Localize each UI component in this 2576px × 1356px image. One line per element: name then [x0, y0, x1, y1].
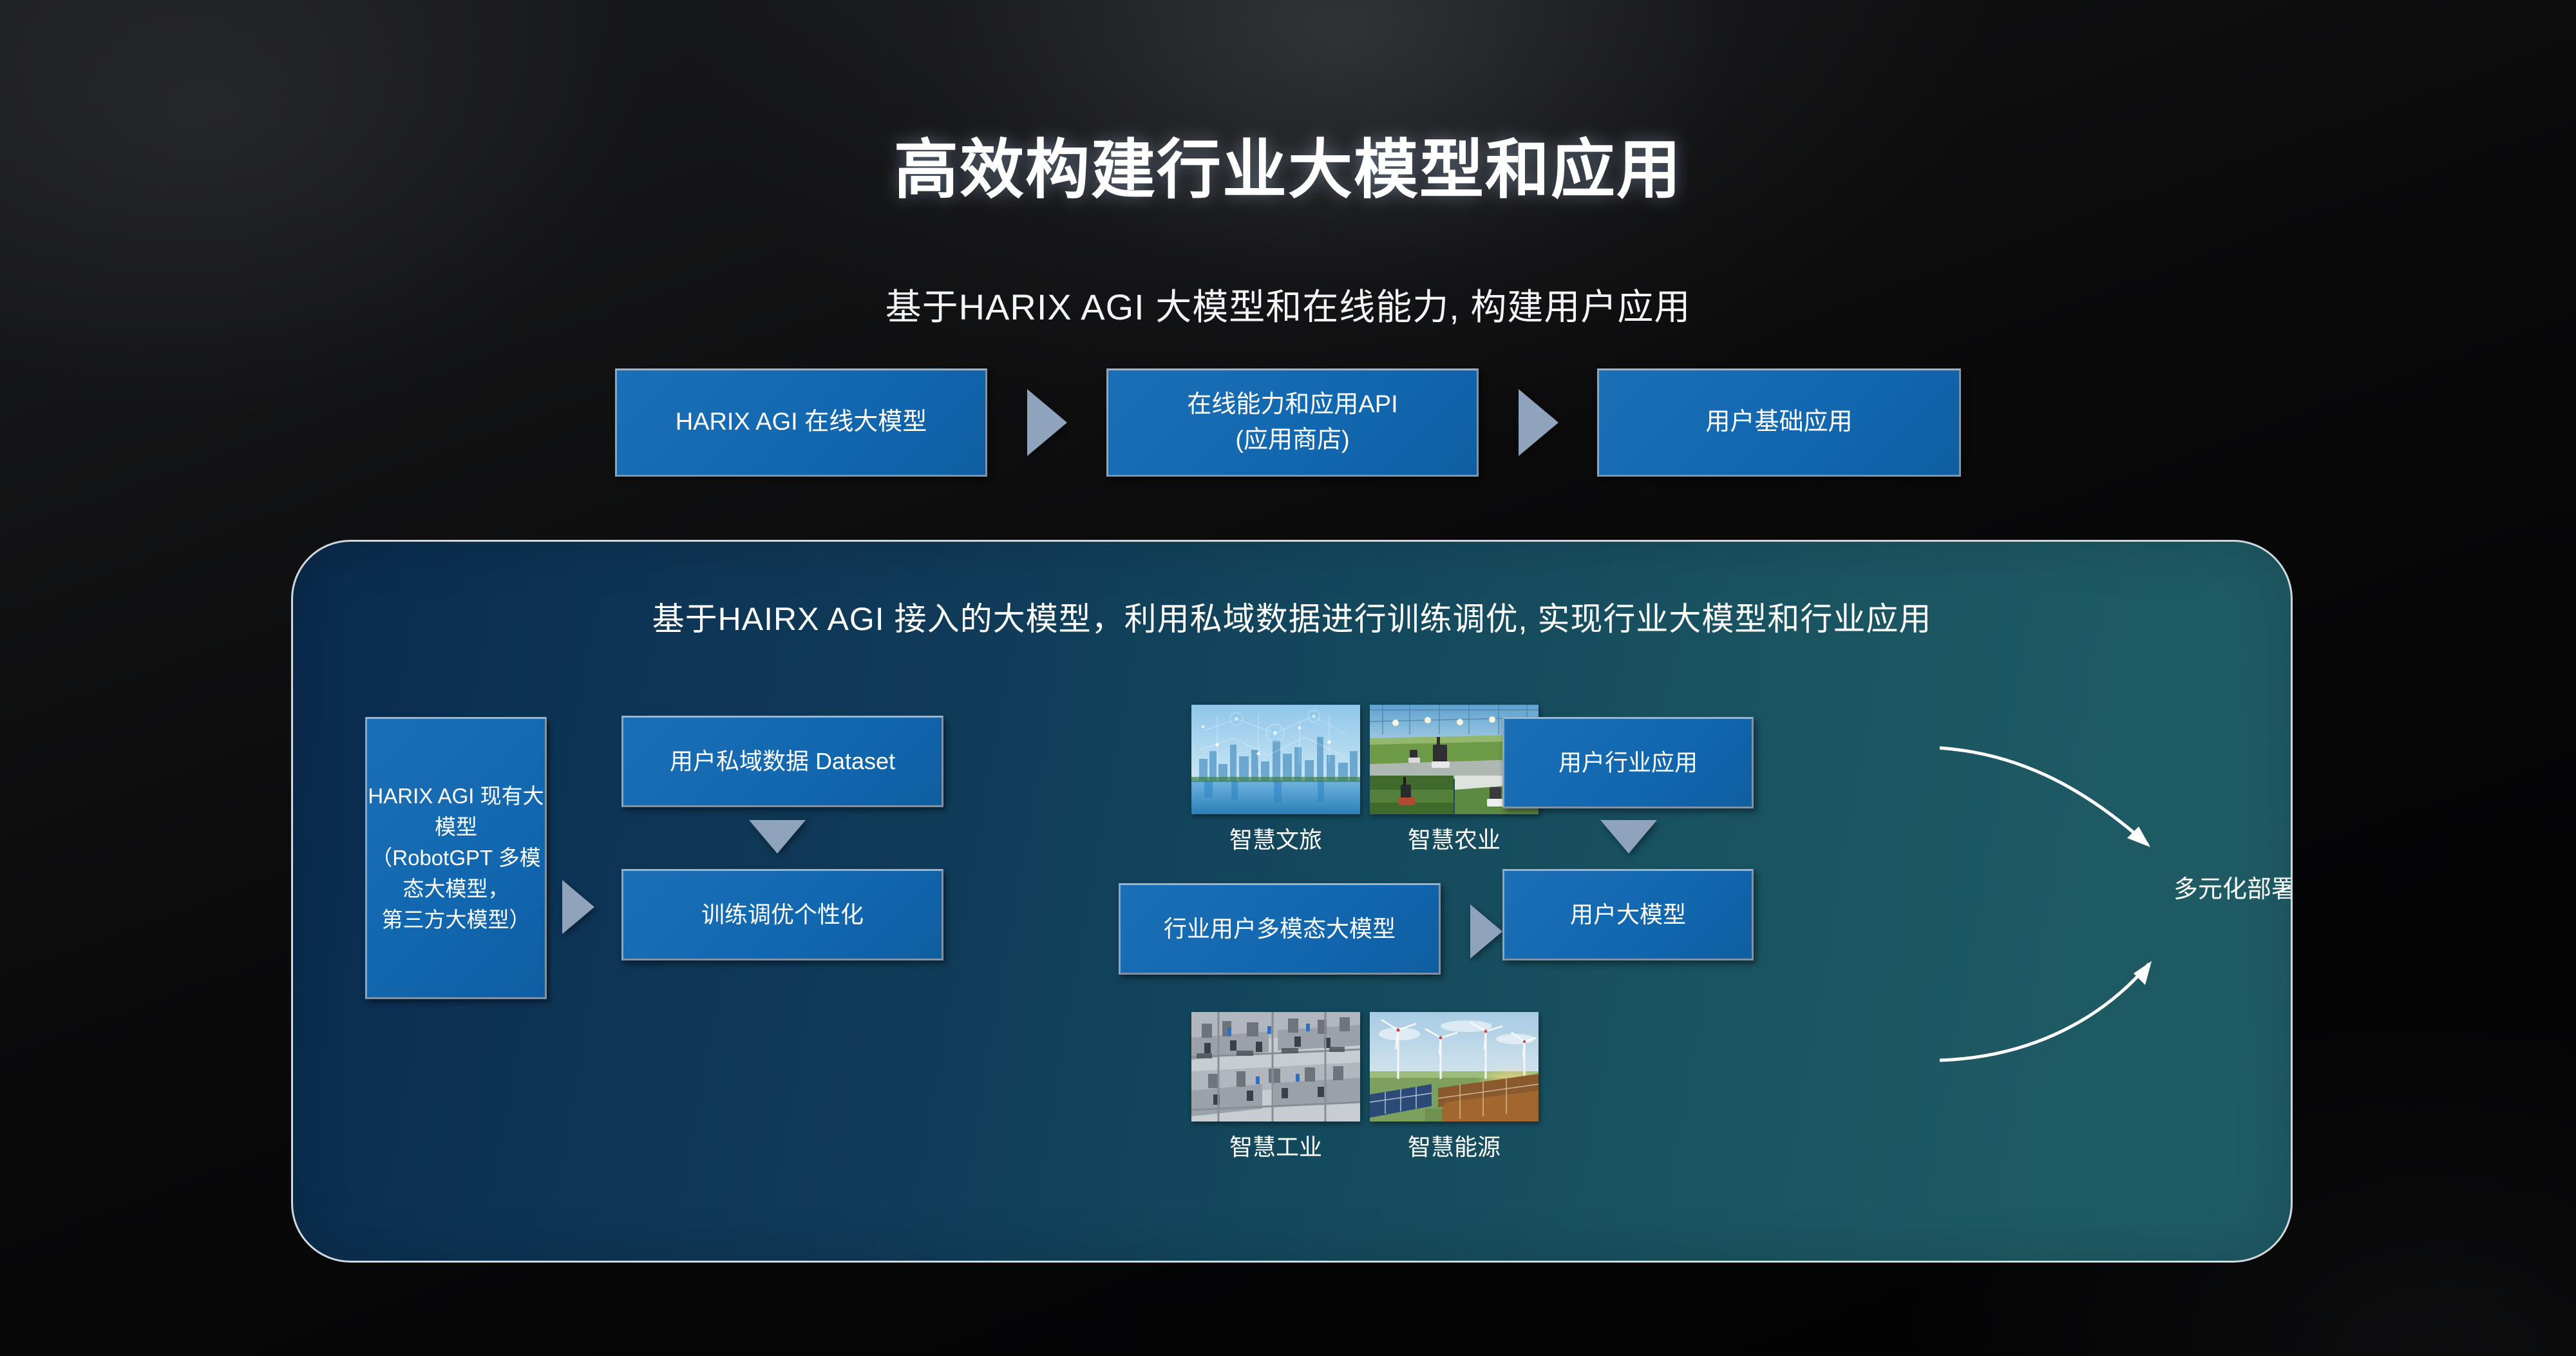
- triangle-right-icon-4: [1470, 904, 1502, 959]
- thumbnail-smart-energy[interactable]: [1370, 1012, 1539, 1122]
- triangle-right-icon-1: [1027, 389, 1067, 456]
- user-model-label: 用户大模型: [1570, 898, 1686, 931]
- user-industry-app-label: 用户行业应用: [1558, 746, 1698, 779]
- industry-model-box[interactable]: 行业用户多模态大模型: [1119, 883, 1441, 975]
- panel-heading: 基于HAIRX AGI 接入的大模型，利用私域数据进行训练调优, 实现行业大模型…: [293, 593, 2291, 640]
- triangle-right-icon-2: [1519, 389, 1558, 456]
- thumbnail-smart-tourism[interactable]: [1191, 705, 1360, 814]
- user-model-box[interactable]: 用户大模型: [1502, 869, 1754, 960]
- thumbnail-smart-industry[interactable]: [1191, 1012, 1360, 1122]
- page-title: 高效构建行业大模型和应用: [0, 117, 2576, 211]
- industry-model-box-label: 行业用户多模态大模型: [1164, 912, 1396, 946]
- user-industry-app-box[interactable]: 用户行业应用: [1502, 717, 1754, 808]
- smart-city-network-photo: [1191, 705, 1360, 814]
- industry-model-panel: 基于HAIRX AGI 接入的大模型，利用私域数据进行训练调优, 实现行业大模型…: [291, 540, 2293, 1263]
- wind-turbine-solar-panel-photo: [1370, 1012, 1539, 1122]
- dataset-box-label: 用户私域数据 Dataset: [670, 745, 895, 778]
- thumbnail-caption-smart-agriculture: 智慧农业: [1370, 821, 1539, 855]
- source-model-box[interactable]: HARIX AGI 现有大模型 （RobotGPT 多模态大模型， 第三方大模型…: [365, 717, 547, 999]
- thumbnail-caption-smart-industry: 智慧工业: [1191, 1129, 1360, 1162]
- source-model-line1: HARIX AGI 现有大模型: [367, 781, 545, 843]
- industrial-factory-aerial-photo: [1191, 1012, 1360, 1122]
- top-flow-box-online-model-label: HARIX AGI 在线大模型: [676, 405, 927, 440]
- training-box[interactable]: 训练调优个性化: [621, 869, 943, 960]
- top-flow-box-api-store-text: 在线能力和应用API (应用商店): [1187, 387, 1397, 458]
- top-flow-box-online-model[interactable]: HARIX AGI 在线大模型: [615, 368, 987, 477]
- top-flow-box-base-app-label: 用户基础应用: [1705, 405, 1852, 440]
- source-model-line2: （RobotGPT 多模态大模型，: [367, 843, 545, 904]
- training-box-label: 训练调优个性化: [701, 898, 864, 931]
- top-flow-box-base-app[interactable]: 用户基础应用: [1597, 368, 1961, 477]
- source-model-line3: 第三方大模型）: [367, 904, 545, 935]
- source-model-text: HARIX AGI 现有大模型 （RobotGPT 多模态大模型， 第三方大模型…: [367, 781, 545, 935]
- deployment-label: 多元化部署: [2173, 869, 2293, 904]
- thumbnail-caption-smart-energy: 智慧能源: [1370, 1129, 1539, 1162]
- slide-canvas: 高效构建行业大模型和应用 基于HARIX AGI 大模型和在线能力, 构建用户应…: [0, 0, 2576, 1356]
- triangle-down-icon-1: [749, 820, 806, 854]
- page-subtitle: 基于HARIX AGI 大模型和在线能力, 构建用户应用: [0, 278, 2576, 330]
- top-flow-box-api-store-line2: (应用商店): [1187, 423, 1397, 458]
- triangle-right-icon-3: [562, 880, 594, 934]
- triangle-down-icon-2: [1600, 820, 1657, 854]
- top-flow-box-api-store-line1: 在线能力和应用API: [1187, 387, 1397, 423]
- top-flow-box-api-store[interactable]: 在线能力和应用API (应用商店): [1106, 368, 1479, 477]
- thumbnail-caption-smart-tourism: 智慧文旅: [1191, 821, 1360, 855]
- dataset-box[interactable]: 用户私域数据 Dataset: [621, 716, 943, 807]
